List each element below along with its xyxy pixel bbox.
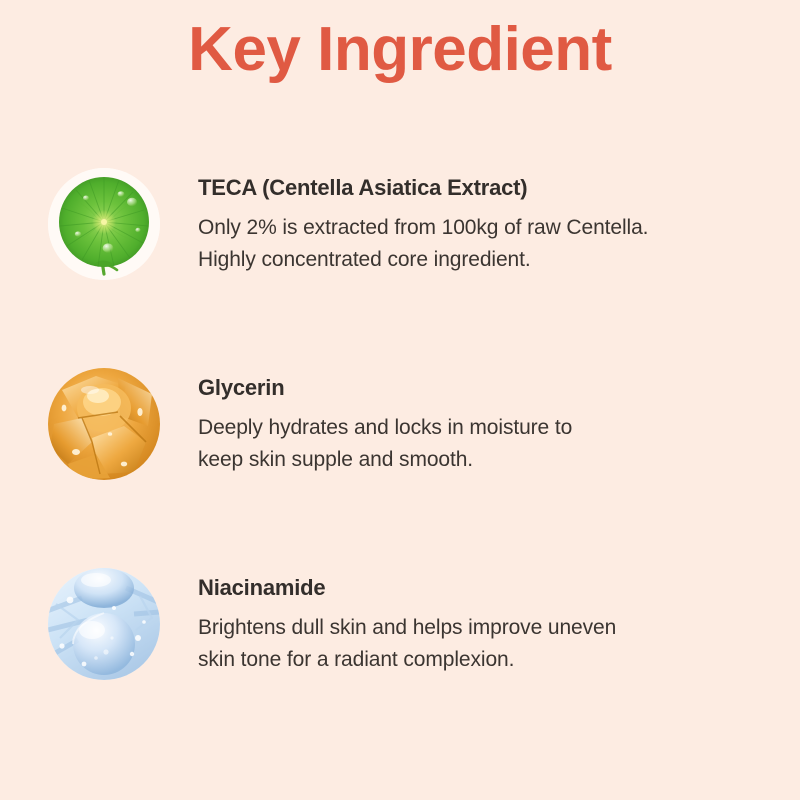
page-title: Key Ingredient — [0, 14, 800, 85]
centella-leaf-photo — [48, 168, 160, 280]
ingredient-item-niacinamide: Niacinamide Brightens dull skin and help… — [0, 568, 800, 680]
ingredient-text-column: Glycerin Deeply hydrates and locks in mo… — [198, 368, 800, 477]
ingredient-name: Niacinamide — [198, 574, 760, 603]
ingredient-list: TECA (Centella Asiatica Extract) Only 2%… — [0, 168, 800, 768]
ingredient-description: Brightens dull skin and helps improve un… — [198, 612, 718, 677]
niacinamide-water-droplets-photo — [48, 568, 160, 680]
ingredient-description: Deeply hydrates and locks in moisture to… — [198, 412, 718, 477]
infographic-page: Key Ingredient — [0, 0, 800, 800]
description-line: Only 2% is extracted from 100kg of raw C… — [198, 212, 718, 245]
description-line: Highly concentrated core ingredient. — [198, 244, 718, 277]
ingredient-name: Glycerin — [198, 374, 760, 403]
ingredient-thumb-wrap — [48, 568, 160, 680]
glycerin-amber-crystals-photo — [48, 368, 160, 480]
description-line: skin tone for a radiant complexion. — [198, 644, 718, 677]
ingredient-name: TECA (Centella Asiatica Extract) — [198, 174, 760, 203]
description-line: Brightens dull skin and helps improve un… — [198, 612, 718, 645]
ingredient-thumb-wrap — [48, 368, 160, 480]
ingredient-text-column: TECA (Centella Asiatica Extract) Only 2%… — [198, 168, 800, 277]
ingredient-item-glycerin: Glycerin Deeply hydrates and locks in mo… — [0, 368, 800, 480]
description-line: keep skin supple and smooth. — [198, 444, 718, 477]
ingredient-thumb-wrap — [48, 168, 160, 280]
description-line: Deeply hydrates and locks in moisture to — [198, 412, 718, 445]
ingredient-item-teca: TECA (Centella Asiatica Extract) Only 2%… — [0, 168, 800, 280]
ingredient-description: Only 2% is extracted from 100kg of raw C… — [198, 212, 718, 277]
ingredient-text-column: Niacinamide Brightens dull skin and help… — [198, 568, 800, 677]
